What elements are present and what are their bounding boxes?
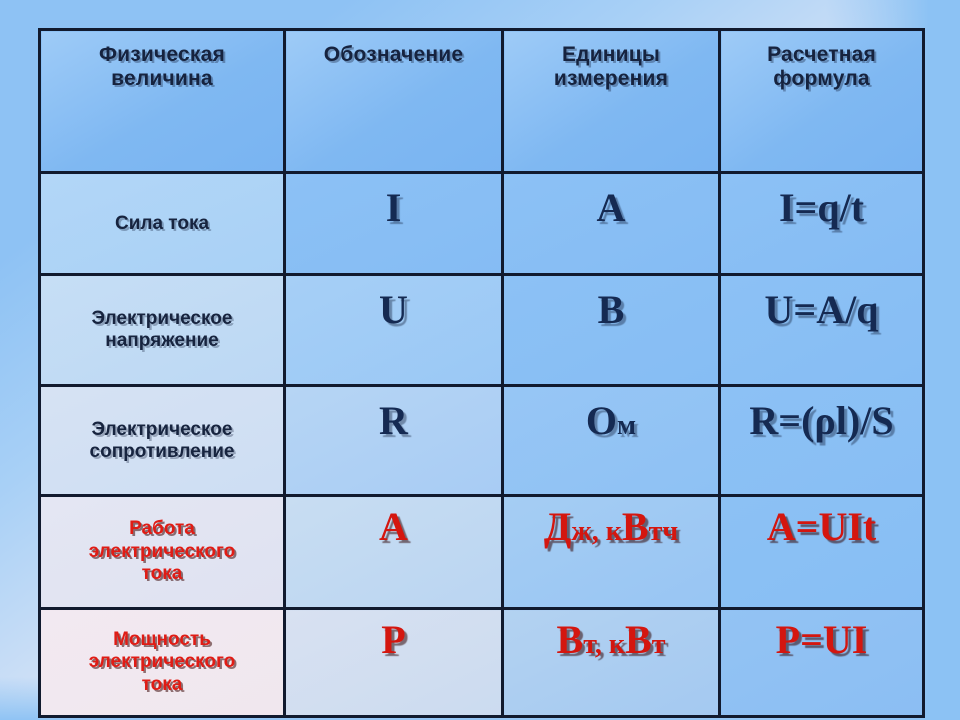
cell-symbol-current: I <box>285 173 503 275</box>
physics-quantities-table: Физическая величина Обозначение Единицы <box>38 28 925 718</box>
cell-symbol-voltage: U <box>285 275 503 386</box>
cell-unit-power: Вт, кВт <box>503 609 720 717</box>
column-header-symbol-line1: Обозначение <box>286 43 501 67</box>
formula-power: P=UI <box>721 620 922 660</box>
cell-formula-voltage: U=A/q <box>720 275 924 386</box>
cell-unit-current: A <box>503 173 720 275</box>
unit-resistance: Ом <box>504 401 718 441</box>
slide-canvas: Физическая величина Обозначение Единицы <box>0 0 960 720</box>
unit-power: Вт, кВт <box>504 620 718 660</box>
quantity-name-current: Сила тока <box>41 213 283 235</box>
unit-work: Дж, кВтч <box>504 507 718 547</box>
cell-symbol-work: A <box>285 496 503 609</box>
cell-quantity-power: Мощность электрического тока <box>40 609 285 717</box>
quantity-name-power: Мощность электрического тока <box>41 629 283 696</box>
column-header-units-line2: измерения <box>504 67 718 91</box>
symbol-work: A <box>286 507 501 547</box>
unit-current: A <box>504 188 718 228</box>
cell-unit-voltage: В <box>503 275 720 386</box>
symbol-voltage: U <box>286 290 501 330</box>
table-row: Мощность электрического тока P Вт, кВт P… <box>40 609 924 717</box>
quantity-name-work: Работа электрического тока <box>41 518 283 585</box>
column-header-quantity-line2: величина <box>41 67 283 91</box>
cell-quantity-voltage: Электрическое напряжение <box>40 275 285 386</box>
column-header-quantity-line1: Физическая <box>41 43 283 67</box>
column-header-formula-line1: Расчетная <box>721 43 922 67</box>
table-header-row: Физическая величина Обозначение Единицы <box>40 30 924 173</box>
formula-voltage: U=A/q <box>721 290 922 330</box>
quantity-name-voltage: Электрическое напряжение <box>41 308 283 352</box>
symbol-power: P <box>286 620 501 660</box>
column-header-formula-line2: формула <box>721 67 922 91</box>
cell-quantity-work: Работа электрического тока <box>40 496 285 609</box>
unit-voltage: В <box>504 290 718 330</box>
column-header-quantity: Физическая величина <box>40 30 285 173</box>
table-row: Сила тока I A I=q/t <box>40 173 924 275</box>
cell-formula-resistance: R=(ρl)/S <box>720 386 924 496</box>
column-header-units: Единицы измерения <box>503 30 720 173</box>
cell-unit-resistance: Ом <box>503 386 720 496</box>
physics-table-container: Физическая величина Обозначение Единицы <box>38 28 922 698</box>
cell-formula-work: A=UIt <box>720 496 924 609</box>
column-header-units-line1: Единицы <box>504 43 718 67</box>
formula-current: I=q/t <box>721 188 922 228</box>
cell-unit-work: Дж, кВтч <box>503 496 720 609</box>
symbol-resistance: R <box>286 401 501 441</box>
symbol-current: I <box>286 188 501 228</box>
cell-formula-power: P=UI <box>720 609 924 717</box>
table-row: Электрическое напряжение U В U=A/q <box>40 275 924 386</box>
cell-symbol-resistance: R <box>285 386 503 496</box>
column-header-symbol: Обозначение <box>285 30 503 173</box>
column-header-formula: Расчетная формула <box>720 30 924 173</box>
cell-formula-current: I=q/t <box>720 173 924 275</box>
cell-quantity-current: Сила тока <box>40 173 285 275</box>
quantity-name-resistance: Электрическое сопротивление <box>41 419 283 463</box>
table-row: Электрическое сопротивление R Ом R=(ρl)/… <box>40 386 924 496</box>
formula-resistance: R=(ρl)/S <box>721 401 922 441</box>
cell-symbol-power: P <box>285 609 503 717</box>
cell-quantity-resistance: Электрическое сопротивление <box>40 386 285 496</box>
formula-work: A=UIt <box>721 507 922 547</box>
table-row: Работа электрического тока A Дж, кВтч A=… <box>40 496 924 609</box>
